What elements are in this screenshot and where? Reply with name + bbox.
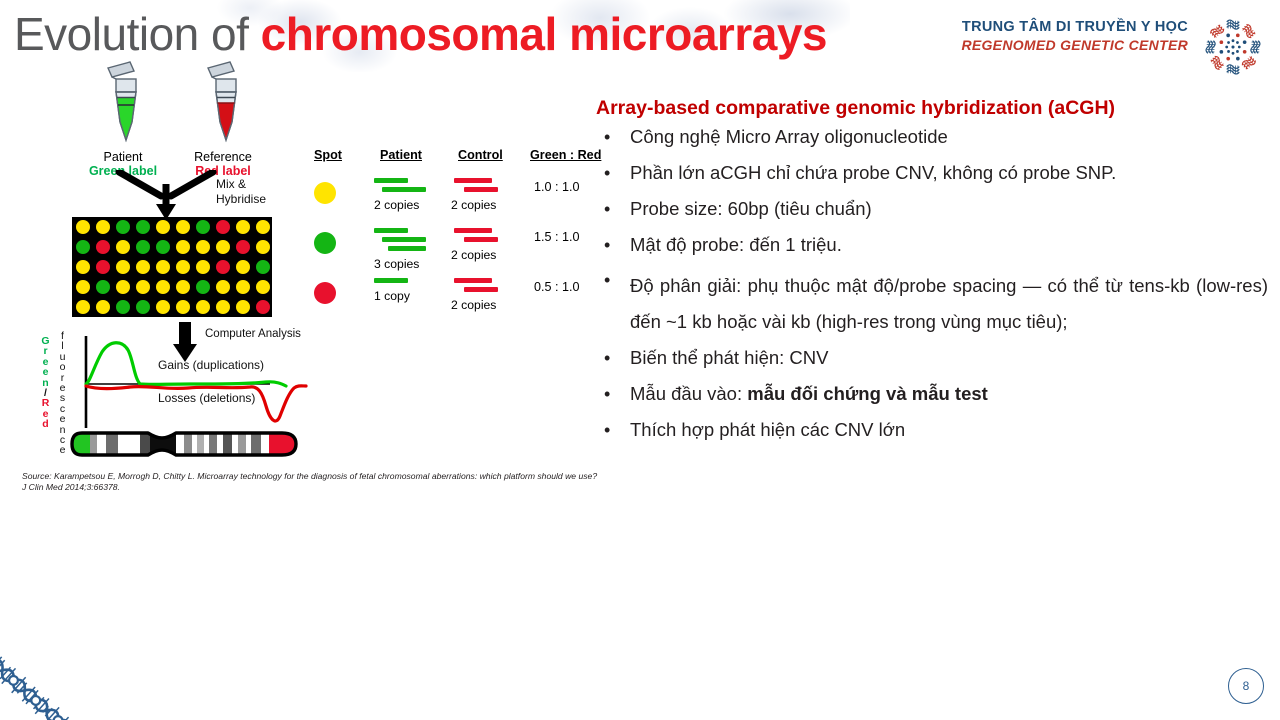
control-copy-bar bbox=[454, 278, 492, 283]
array-spot bbox=[256, 220, 270, 234]
organization-name: TRUNG TÂM DI TRUYỀN Y HỌC REGENOMED GENE… bbox=[961, 18, 1188, 54]
array-spot bbox=[116, 260, 130, 274]
patient-copy-caption: 2 copies bbox=[374, 198, 419, 212]
axis-green-red-label: Green/Red bbox=[40, 336, 51, 430]
control-copy-bar bbox=[454, 178, 492, 183]
bullet-marker: • bbox=[604, 197, 610, 221]
title-plain-part: Evolution of bbox=[14, 8, 261, 60]
reference-tube-title: Reference bbox=[194, 150, 252, 164]
page-number-text: 8 bbox=[1243, 679, 1250, 693]
array-spot bbox=[216, 260, 230, 274]
control-copy-caption: 2 copies bbox=[451, 248, 496, 262]
array-spot bbox=[236, 260, 250, 274]
bullet-marker: • bbox=[604, 125, 610, 149]
dna-helix-decoration-icon bbox=[0, 570, 242, 720]
array-spot bbox=[136, 220, 150, 234]
bullet-text: Công nghệ Micro Array oligonucleotide bbox=[630, 126, 948, 147]
array-spot bbox=[76, 240, 90, 254]
array-spot bbox=[76, 280, 90, 294]
bullet-text: Phần lớn aCGH chỉ chứa probe CNV, không … bbox=[630, 162, 1116, 183]
bullet-marker: • bbox=[604, 418, 610, 442]
array-spot bbox=[216, 300, 230, 314]
patient-copy-caption: 3 copies bbox=[374, 257, 419, 271]
array-spot bbox=[156, 260, 170, 274]
array-spot bbox=[176, 240, 190, 254]
array-spot bbox=[116, 240, 130, 254]
table-row-spot bbox=[314, 232, 336, 254]
patient-copy-bar bbox=[374, 278, 408, 283]
array-spot bbox=[156, 280, 170, 294]
losses-label: Losses (deletions) bbox=[158, 391, 255, 405]
page-title: Evolution of chromosomal microarrays bbox=[14, 4, 854, 66]
array-spot bbox=[196, 280, 210, 294]
gains-label: Gains (duplications) bbox=[158, 358, 264, 372]
table-row-spot bbox=[314, 282, 336, 304]
title-red-part: chromosomal microarrays bbox=[261, 8, 827, 60]
array-spot bbox=[136, 260, 150, 274]
bullet-item: •Probe size: 60bp (tiêu chuẩn) bbox=[596, 197, 1268, 222]
bullet-item: •Phần lớn aCGH chỉ chứa probe CNV, không… bbox=[596, 161, 1268, 186]
patient-copy-caption: 1 copy bbox=[374, 289, 410, 303]
green-red-ratio: 1.0 : 1.0 bbox=[534, 180, 580, 194]
array-spot bbox=[156, 300, 170, 314]
array-spot bbox=[116, 280, 130, 294]
array-spot bbox=[76, 300, 90, 314]
control-copy-bar bbox=[464, 187, 498, 192]
array-spot bbox=[116, 220, 130, 234]
source-citation: Source: Karampetsou E, Morrogh D, Chitty… bbox=[22, 471, 602, 494]
bullet-text: Mật độ probe: đến 1 triệu. bbox=[630, 234, 842, 255]
table-header-0: Spot bbox=[314, 148, 342, 162]
mix-arrow-icon bbox=[111, 170, 221, 220]
array-spot bbox=[136, 280, 150, 294]
array-spot bbox=[76, 220, 90, 234]
control-copy-bar bbox=[464, 237, 498, 242]
array-spot bbox=[236, 240, 250, 254]
array-spot bbox=[236, 280, 250, 294]
array-spot bbox=[96, 240, 110, 254]
array-spot bbox=[236, 220, 250, 234]
bullet-marker: • bbox=[604, 382, 610, 406]
bullet-text: Mẫu đầu vào: mẫu đối chứng và mẫu test bbox=[630, 383, 988, 404]
array-spot bbox=[256, 260, 270, 274]
array-spot bbox=[96, 300, 110, 314]
array-spot bbox=[136, 300, 150, 314]
array-spot bbox=[96, 280, 110, 294]
bullet-text: Độ phân giải: phụ thuộc mật độ/probe spa… bbox=[630, 268, 1268, 340]
bullet-marker: • bbox=[604, 346, 610, 370]
table-header-3: Green : Red bbox=[530, 148, 601, 162]
array-spot bbox=[256, 240, 270, 254]
array-spot bbox=[96, 260, 110, 274]
array-spot bbox=[176, 280, 190, 294]
bullet-item: •Mẫu đầu vào: mẫu đối chứng và mẫu test bbox=[596, 382, 1268, 407]
control-copy-bar bbox=[454, 228, 492, 233]
control-copy-caption: 2 copies bbox=[451, 198, 496, 212]
array-spot bbox=[216, 220, 230, 234]
content-column: Array-based comparative genomic hybridiz… bbox=[596, 96, 1268, 454]
patient-copy-bar bbox=[374, 228, 408, 233]
array-spot bbox=[216, 280, 230, 294]
array-spot bbox=[156, 240, 170, 254]
array-spot bbox=[96, 220, 110, 234]
bullet-text: Thích hợp phát hiện các CNV lớn bbox=[630, 419, 905, 440]
bullet-marker: • bbox=[604, 161, 610, 185]
patient-copy-bar bbox=[382, 237, 426, 242]
array-spot bbox=[136, 240, 150, 254]
reference-tube-icon bbox=[186, 60, 260, 160]
array-spot bbox=[176, 220, 190, 234]
bullet-item: •Mật độ probe: đến 1 triệu. bbox=[596, 233, 1268, 258]
control-copy-caption: 2 copies bbox=[451, 298, 496, 312]
table-row-spot bbox=[314, 182, 336, 204]
patient-tube-title: Patient bbox=[104, 150, 143, 164]
array-spot bbox=[196, 220, 210, 234]
array-spot bbox=[196, 300, 210, 314]
array-spot bbox=[176, 300, 190, 314]
array-spot bbox=[116, 300, 130, 314]
bullet-item: •Độ phân giải: phụ thuộc mật độ/probe sp… bbox=[596, 268, 1268, 340]
patient-copy-bar bbox=[374, 178, 408, 183]
bullet-item: •Biến thể phát hiện: CNV bbox=[596, 346, 1268, 371]
table-header-2: Control bbox=[458, 148, 503, 162]
bullet-item: •Thích hợp phát hiện các CNV lớn bbox=[596, 418, 1268, 443]
slide: Evolution of chromosomal microarrays TRU… bbox=[0, 0, 1280, 720]
section-heading: Array-based comparative genomic hybridiz… bbox=[596, 96, 1268, 120]
green-red-ratio: 1.5 : 1.0 bbox=[534, 230, 580, 244]
patient-copy-bar bbox=[388, 246, 426, 251]
patient-tube-icon bbox=[86, 60, 160, 160]
array-spot bbox=[196, 260, 210, 274]
chromosome-ideogram bbox=[70, 427, 300, 461]
array-spot bbox=[76, 260, 90, 274]
bullet-item: •Công nghệ Micro Array oligonucleotide bbox=[596, 125, 1268, 150]
bullet-text-bold: mẫu đối chứng và mẫu test bbox=[747, 383, 988, 404]
array-spot bbox=[196, 240, 210, 254]
microarray-grid bbox=[72, 217, 272, 317]
bullet-text: Biến thể phát hiện: CNV bbox=[630, 347, 829, 368]
array-spot bbox=[236, 300, 250, 314]
dna-circle-logo-icon bbox=[1198, 12, 1268, 82]
bullet-marker: • bbox=[604, 233, 610, 257]
org-name-vietnamese: TRUNG TÂM DI TRUYỀN Y HỌC bbox=[961, 18, 1188, 37]
mix-hybridise-label: Mix & Hybridise bbox=[216, 177, 266, 206]
bullet-text: Probe size: 60bp (tiêu chuẩn) bbox=[630, 198, 872, 219]
page-number-badge: 8 bbox=[1228, 668, 1264, 704]
array-spot bbox=[156, 220, 170, 234]
array-spot bbox=[216, 240, 230, 254]
bullet-list: •Công nghệ Micro Array oligonucleotide•P… bbox=[596, 125, 1268, 443]
axis-fluorescence-label: fluorescence bbox=[57, 331, 68, 456]
patient-copy-bar bbox=[382, 187, 426, 192]
table-header-1: Patient bbox=[380, 148, 422, 162]
org-name-english: REGENOMED GENETIC CENTER bbox=[961, 37, 1188, 55]
array-spot bbox=[176, 260, 190, 274]
mix-hybridise-text: Mix & Hybridise bbox=[216, 177, 266, 206]
acgh-workflow-figure: Patient Green label Reference Red label … bbox=[18, 60, 584, 470]
green-red-ratio: 0.5 : 1.0 bbox=[534, 280, 580, 294]
array-spot bbox=[256, 300, 270, 314]
bullet-marker: • bbox=[604, 268, 610, 292]
control-copy-bar bbox=[464, 287, 498, 292]
array-spot bbox=[256, 280, 270, 294]
